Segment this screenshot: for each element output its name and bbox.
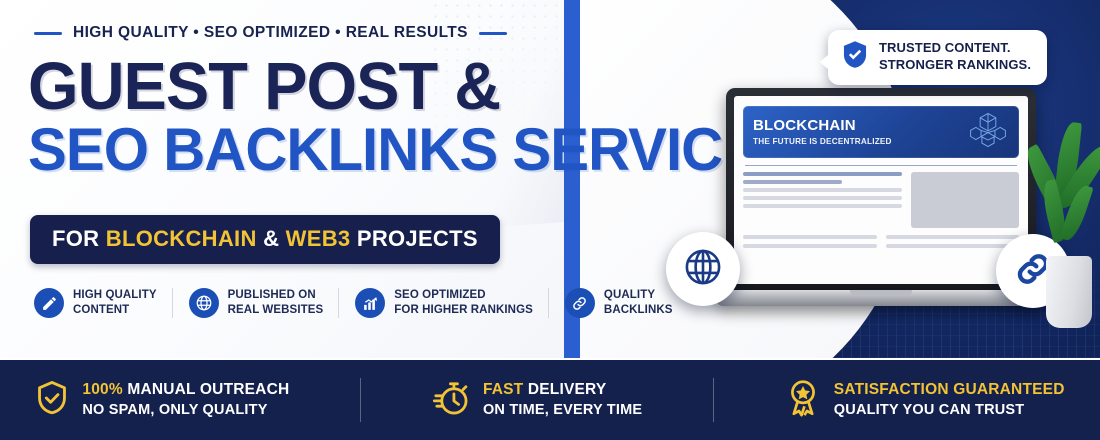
feature-label: PUBLISHED ON REAL WEBSITES xyxy=(228,288,324,318)
blockchain-cube-network-icon xyxy=(967,110,1009,155)
bottom-line-2: ON TIME, EVERY TIME xyxy=(483,401,642,420)
bottom-item-text: SATISFACTION GUARANTEED QUALITY YOU CAN … xyxy=(834,380,1065,420)
plant-pot xyxy=(1046,256,1092,328)
chart-up-icon xyxy=(355,288,385,318)
screen-text-column xyxy=(886,235,1020,248)
feature-line-1: HIGH QUALITY xyxy=(73,289,157,301)
feature-line-1: PUBLISHED ON xyxy=(228,289,316,301)
tagline-dash-left xyxy=(34,32,62,35)
floating-globe-badge xyxy=(666,232,740,306)
tagline-dash-right xyxy=(479,32,507,35)
shield-check-icon xyxy=(842,40,868,74)
placeholder-line xyxy=(743,180,842,184)
feature-label: HIGH QUALITY CONTENT xyxy=(73,288,157,318)
headline-line-2: SEO BACKLINKS SERVICE xyxy=(28,122,760,178)
trusted-content-badge: TRUSTED CONTENT. STRONGER RANKINGS. xyxy=(828,30,1047,85)
placeholder-line xyxy=(743,235,877,239)
screen-text-column xyxy=(743,235,877,248)
tagline-text: HIGH QUALITY • SEO OPTIMIZED • REAL RESU… xyxy=(73,24,468,42)
laptop-lid: BLOCKCHAIN THE FUTURE IS DECENTRALIZED xyxy=(726,88,1036,294)
bottom-item-satisfaction-guaranteed: SATISFACTION GUARANTEED QUALITY YOU CAN … xyxy=(785,378,1065,423)
tagline: HIGH QUALITY • SEO OPTIMIZED • REAL RESU… xyxy=(34,24,507,42)
subtitle-suffix: PROJECTS xyxy=(350,226,477,251)
bottom-item-manual-outreach: 100% MANUAL OUTREACH NO SPAM, ONLY QUALI… xyxy=(35,379,289,422)
bottom-item-text: FAST DELIVERY ON TIME, EVERY TIME xyxy=(483,380,642,420)
bottom-line-2: NO SPAM, ONLY QUALITY xyxy=(82,401,289,420)
pencil-icon xyxy=(34,288,64,318)
bottom-divider xyxy=(713,378,714,422)
bottom-line-2: QUALITY YOU CAN TRUST xyxy=(834,401,1065,420)
subtitle-middle: & xyxy=(257,226,286,251)
award-ribbon-icon xyxy=(785,378,821,423)
laptop-screen: BLOCKCHAIN THE FUTURE IS DECENTRALIZED xyxy=(734,96,1028,284)
placeholder-line xyxy=(743,172,902,176)
screen-text-column xyxy=(743,172,902,228)
link-icon xyxy=(565,288,595,318)
subtitle-highlight-blockchain: BLOCKCHAIN xyxy=(106,226,257,251)
feature-line-2: REAL WEBSITES xyxy=(228,304,324,316)
shield-check-icon xyxy=(35,379,69,422)
subtitle-prefix: FOR xyxy=(52,226,106,251)
feature-label: SEO OPTIMIZED FOR HIGHER RANKINGS xyxy=(394,288,533,318)
placeholder-line xyxy=(743,244,877,248)
bottom-line-1-rest: MANUAL OUTREACH xyxy=(123,381,290,398)
feature-line-2: FOR HIGHER RANKINGS xyxy=(394,304,533,316)
plant-decoration xyxy=(1032,118,1100,328)
headline-line-1: GUEST POST & xyxy=(28,56,760,118)
laptop-trackpad-notch xyxy=(850,290,912,296)
placeholder-line xyxy=(743,196,902,200)
page-title: GUEST POST & SEO BACKLINKS SERVICE xyxy=(28,56,783,178)
feature-list: HIGH QUALITY CONTENT PUBLISHED ON REAL W… xyxy=(34,288,688,318)
bottom-line-1-rest: DELIVERY xyxy=(523,381,606,398)
feature-line-1: SEO OPTIMIZED xyxy=(394,289,485,301)
badge-text: TRUSTED CONTENT. STRONGER RANKINGS. xyxy=(879,40,1031,74)
bottom-line-1-gold: 100% xyxy=(82,381,122,398)
badge-line-2: STRONGER RANKINGS. xyxy=(879,57,1031,72)
bottom-item-text: 100% MANUAL OUTREACH NO SPAM, ONLY QUALI… xyxy=(82,380,289,420)
placeholder-line xyxy=(743,188,902,192)
bottom-guarantee-bar: 100% MANUAL OUTREACH NO SPAM, ONLY QUALI… xyxy=(0,358,1100,440)
bottom-line-1: SATISFACTION GUARANTEED xyxy=(834,381,1065,398)
placeholder-line xyxy=(886,244,1020,248)
globe-icon xyxy=(682,246,724,293)
badge-line-1: TRUSTED CONTENT. xyxy=(879,40,1011,55)
stopwatch-icon xyxy=(432,379,470,422)
promo-banner: HIGH QUALITY • SEO OPTIMIZED • REAL RESU… xyxy=(0,0,1100,440)
feature-item-seo-optimized: SEO OPTIMIZED FOR HIGHER RANKINGS xyxy=(338,288,548,318)
placeholder-line xyxy=(743,204,902,208)
globe-icon xyxy=(189,288,219,318)
subtitle-pill: FOR BLOCKCHAIN & WEB3 PROJECTS xyxy=(30,215,500,264)
feature-line-2: BACKLINKS xyxy=(604,304,673,316)
laptop-mockup: BLOCKCHAIN THE FUTURE IS DECENTRALIZED xyxy=(716,88,1046,316)
placeholder-line xyxy=(886,235,1020,239)
feature-line-1: QUALITY xyxy=(604,289,655,301)
feature-label: QUALITY BACKLINKS xyxy=(604,288,673,318)
feature-item-published-on-real-websites: PUBLISHED ON REAL WEBSITES xyxy=(172,288,339,318)
bottom-line-1-gold: SATISFACTION GUARANTEED xyxy=(834,381,1065,398)
bottom-line-1: 100% MANUAL OUTREACH xyxy=(82,381,289,398)
screen-body xyxy=(743,172,1019,228)
screen-image-placeholder xyxy=(911,172,1019,228)
screen-footer xyxy=(743,235,1019,248)
bottom-line-1: FAST DELIVERY xyxy=(483,381,606,398)
screen-divider xyxy=(745,165,1017,166)
feature-item-quality-backlinks: QUALITY BACKLINKS xyxy=(548,288,688,318)
screen-header-title: BLOCKCHAIN xyxy=(753,118,892,134)
screen-header-subtitle: THE FUTURE IS DECENTRALIZED xyxy=(753,137,892,146)
bottom-line-1-gold: FAST xyxy=(483,381,523,398)
bottom-divider xyxy=(360,378,361,422)
bottom-item-fast-delivery: FAST DELIVERY ON TIME, EVERY TIME xyxy=(432,379,642,422)
feature-item-high-quality-content: HIGH QUALITY CONTENT xyxy=(34,288,172,318)
subtitle-highlight-web3: WEB3 xyxy=(286,226,351,251)
screen-header-banner: BLOCKCHAIN THE FUTURE IS DECENTRALIZED xyxy=(743,106,1019,158)
feature-line-2: CONTENT xyxy=(73,304,129,316)
